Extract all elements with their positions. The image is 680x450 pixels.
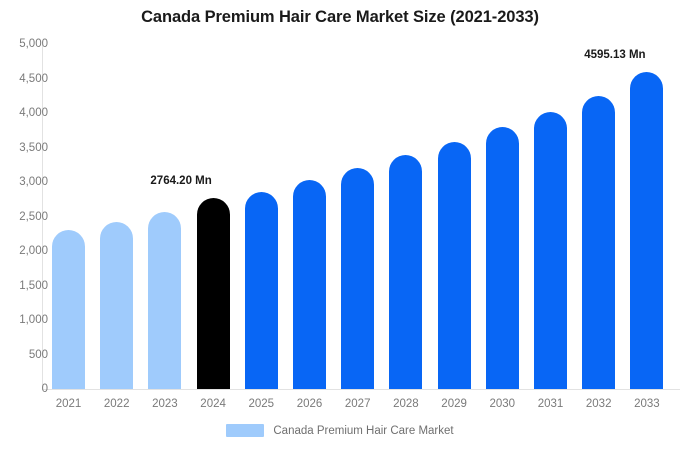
legend-swatch-canada-premium-hair-care-market	[226, 424, 264, 437]
bar-2030[interactable]	[486, 127, 519, 389]
y-axis-tick-label: 3,000	[2, 176, 48, 188]
bar-2025[interactable]	[245, 192, 278, 389]
bar-2021[interactable]	[52, 230, 85, 389]
bar-2032[interactable]	[582, 96, 615, 389]
y-axis-tick-label: 2,500	[2, 211, 48, 223]
x-axis-line	[42, 389, 680, 390]
y-axis-tick-label: 2,000	[2, 245, 48, 257]
y-axis-tick-label: 4,500	[2, 73, 48, 85]
bar-2031[interactable]	[534, 112, 567, 389]
bar-2033[interactable]	[630, 72, 663, 389]
y-axis-tick-label: 5,000	[2, 38, 48, 50]
y-axis-tick-label: 4,000	[2, 107, 48, 119]
bar-2022[interactable]	[100, 222, 133, 389]
x-axis-tick-label-2033: 2033	[617, 398, 677, 410]
bar-2023[interactable]	[148, 212, 181, 389]
bar-2028[interactable]	[389, 155, 422, 389]
chart-legend: Canada Premium Hair Care Market	[0, 424, 680, 437]
y-axis-tick-label: 1,000	[2, 314, 48, 326]
bar-2029[interactable]	[438, 142, 471, 389]
y-axis-tick-label: 1,500	[2, 280, 48, 292]
bar-chart: Canada Premium Hair Care Market Size (20…	[0, 0, 680, 450]
bar-value-label-2024: 2764.20 Mn	[150, 175, 211, 187]
bar-2024[interactable]	[197, 198, 230, 389]
bar-2027[interactable]	[341, 168, 374, 389]
legend-label-canada-premium-hair-care-market: Canada Premium Hair Care Market	[273, 425, 453, 437]
y-axis-tick-label: 500	[2, 349, 48, 361]
plot-area: 05001,0001,5002,0002,5003,0003,5004,0004…	[0, 0, 680, 450]
y-axis-tick-label: 0	[2, 383, 48, 395]
bar-value-label-2033: 4595.13 Mn	[584, 49, 645, 61]
y-axis-tick-label: 3,500	[2, 142, 48, 154]
bar-2026[interactable]	[293, 180, 326, 389]
